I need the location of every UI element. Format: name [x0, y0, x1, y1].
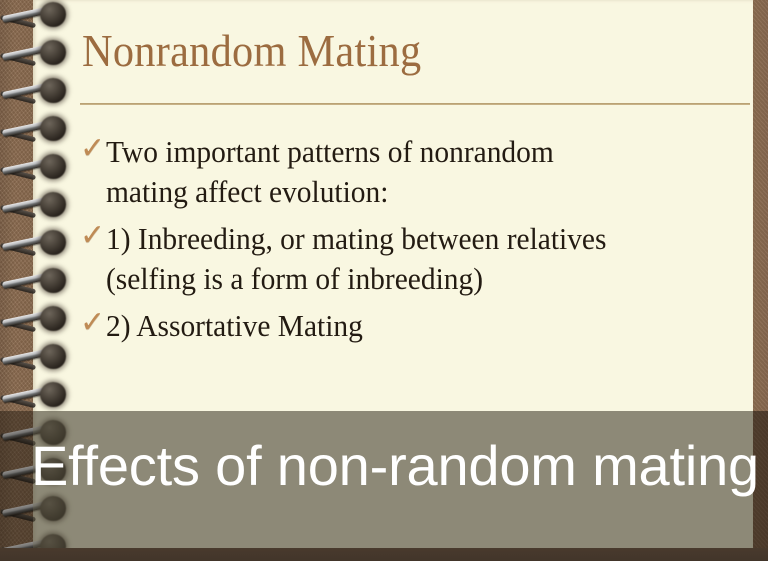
list-item-line-2: (selfing is a form of inbreeding)	[106, 259, 718, 299]
list-item: ✓ Two important patterns of nonrandom ma…	[80, 132, 750, 212]
list-item-line-1: 1) Inbreeding, or mating between relativ…	[106, 221, 606, 256]
slide-title: Nonrandom Mating	[82, 28, 421, 74]
list-item-text: Two important patterns of nonrandom mati…	[106, 132, 718, 212]
list-item-text: 2) Assortative Mating	[106, 306, 718, 346]
bullet-list: ✓ Two important patterns of nonrandom ma…	[80, 132, 750, 353]
list-item: ✓ 2) Assortative Mating	[80, 306, 750, 346]
bottom-edge-strip	[0, 548, 768, 561]
list-item-line-2: mating affect evolution:	[106, 172, 718, 212]
list-item-line-1: Two important patterns of nonrandom	[106, 134, 554, 169]
presentation-slide: Nonrandom Mating ✓ Two important pattern…	[0, 0, 768, 561]
list-item-text: 1) Inbreeding, or mating between relativ…	[106, 219, 718, 299]
caption-overlay-left-edge	[0, 411, 33, 561]
list-item-line-1: 2) Assortative Mating	[106, 308, 363, 343]
list-item: ✓ 1) Inbreeding, or mating between relat…	[80, 219, 750, 299]
checkmark-icon: ✓	[80, 132, 106, 166]
checkmark-icon: ✓	[80, 306, 106, 340]
title-divider-rule	[80, 103, 750, 105]
checkmark-icon: ✓	[80, 219, 106, 253]
caption-text: Effects of non-random mating	[31, 434, 761, 498]
